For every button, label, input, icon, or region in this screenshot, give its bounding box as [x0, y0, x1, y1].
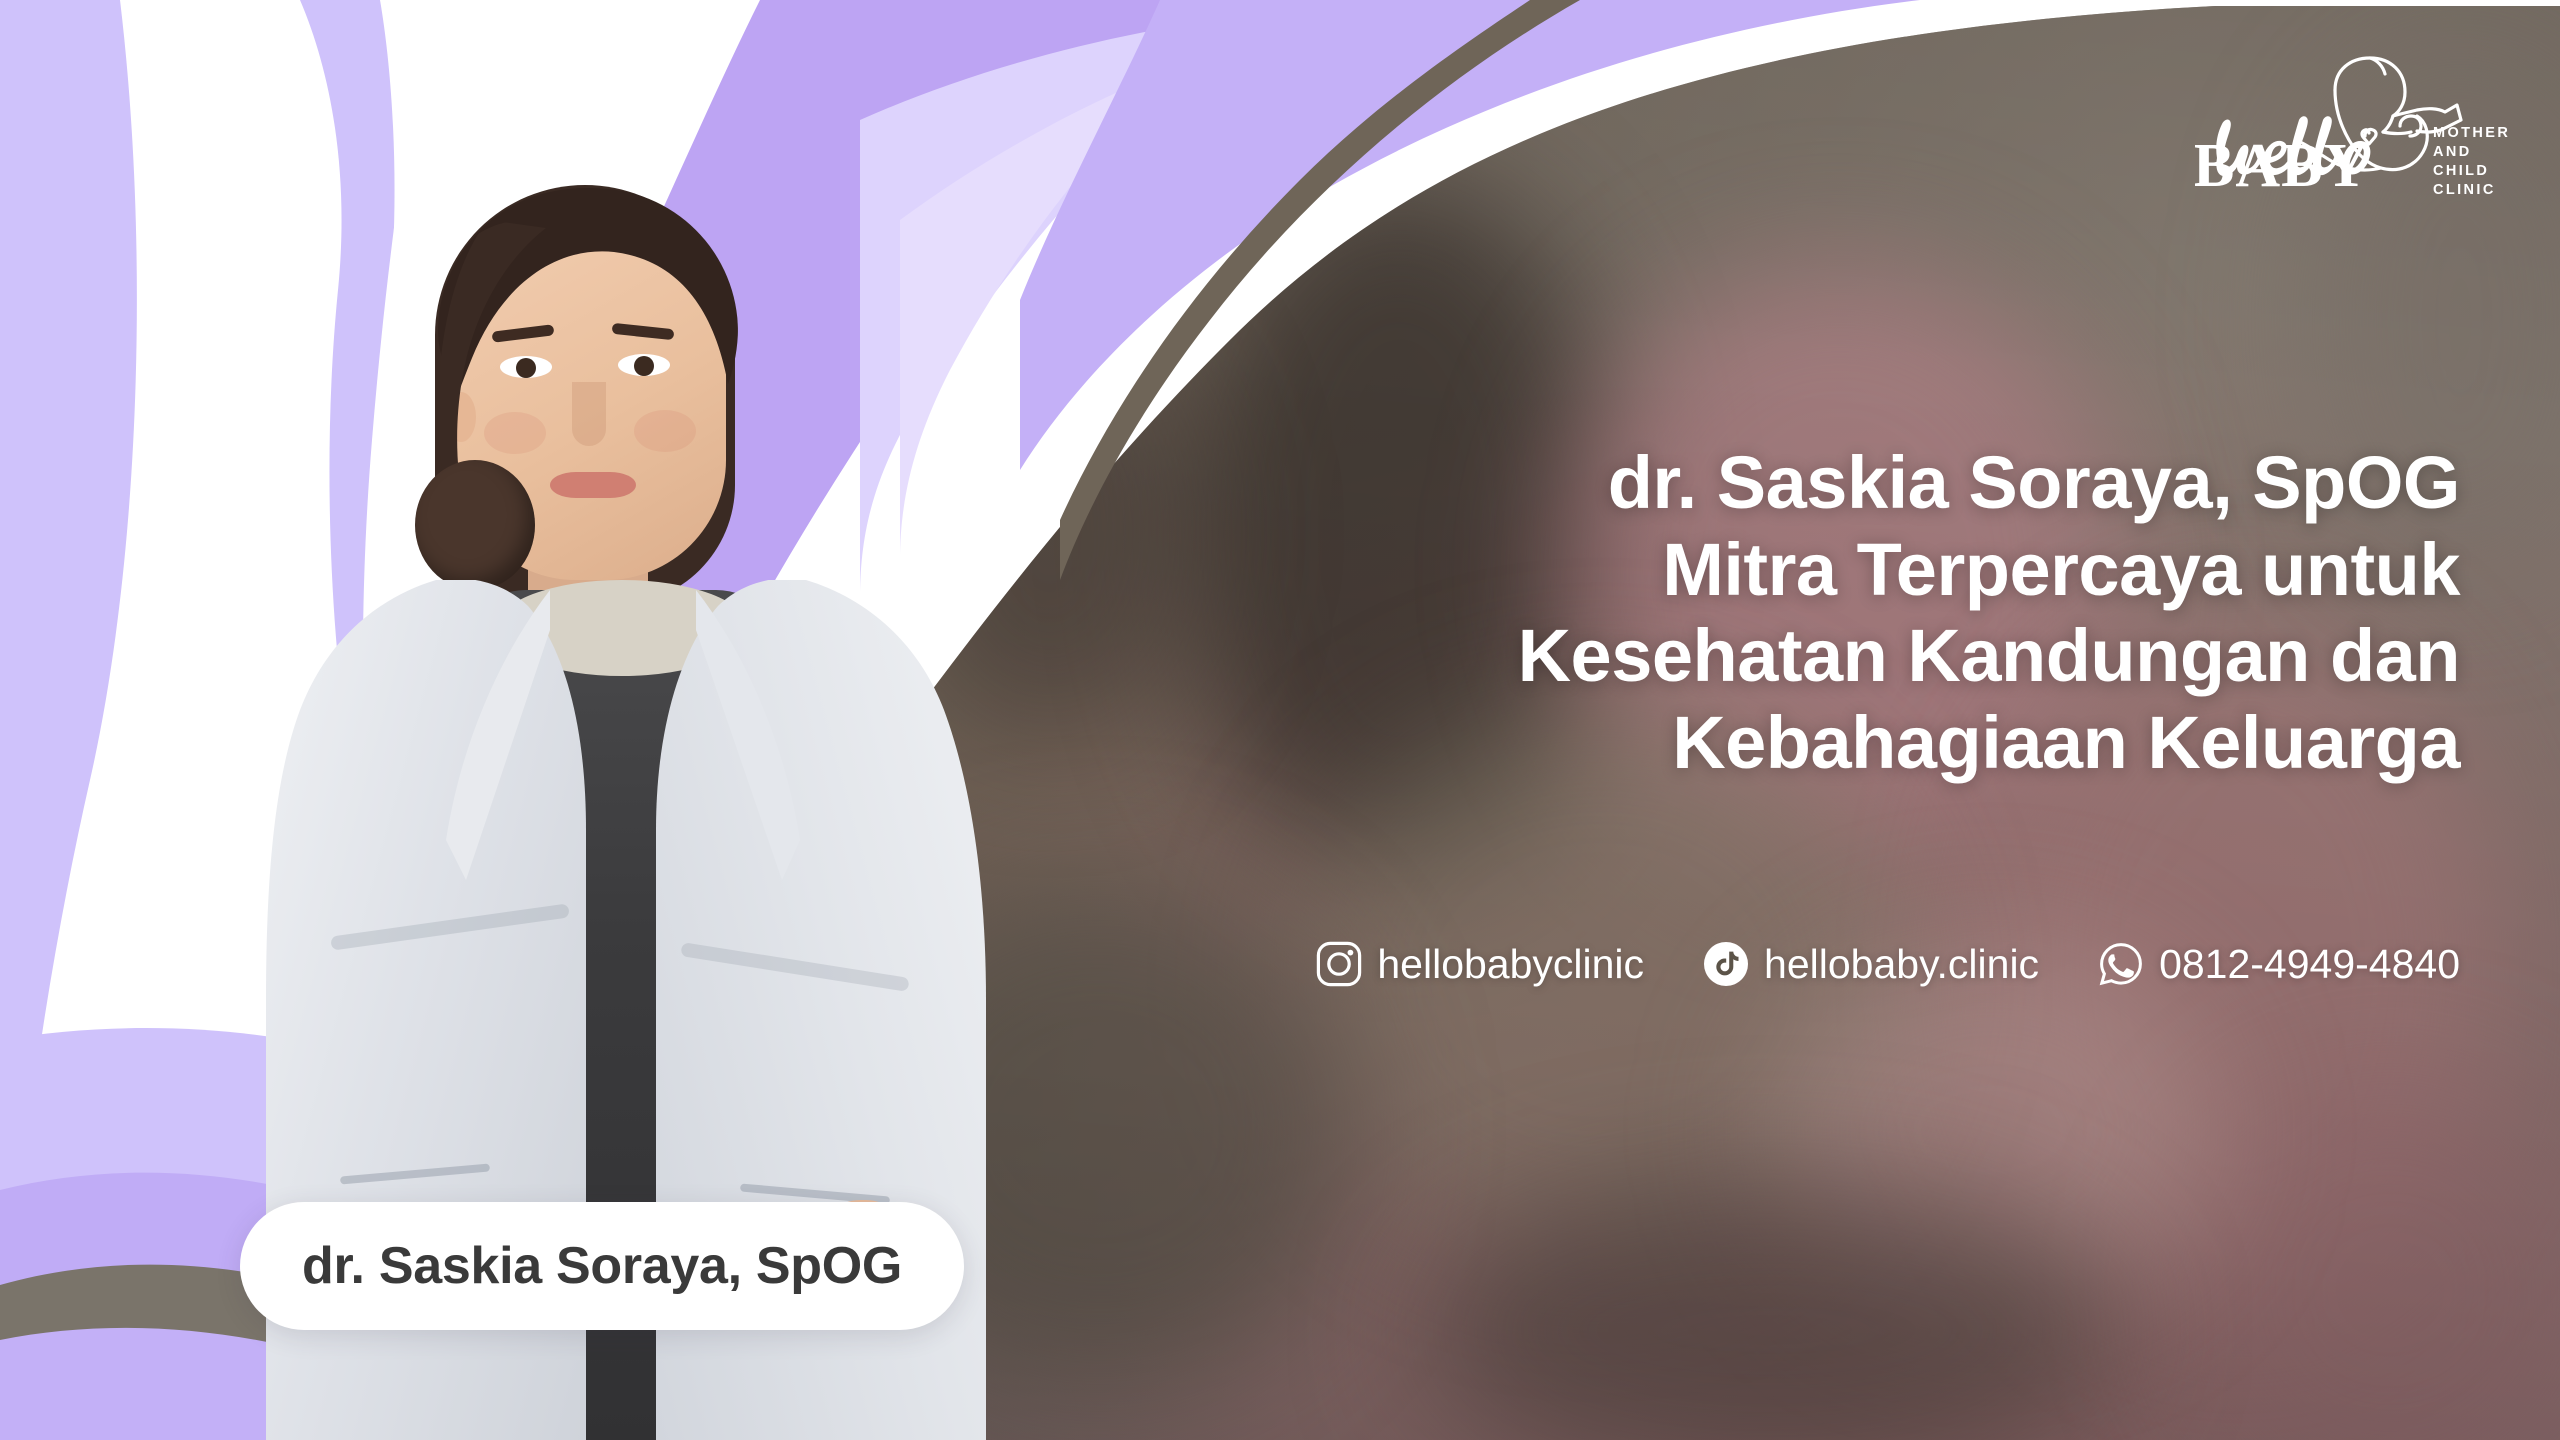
headline-line-1: dr. Saskia Soraya, SpOG — [900, 440, 2460, 527]
instagram-handle[interactable]: hellobabyclinic — [1377, 941, 1644, 988]
hello-baby-logo: BABY MOTHER AND CHILD CLINIC — [2195, 48, 2505, 188]
tiktok-icon[interactable] — [1702, 940, 1750, 988]
cheek-right — [634, 410, 696, 452]
headline-line-2: Mitra Terpercaya untuk — [900, 527, 2460, 614]
nose — [572, 382, 606, 446]
whatsapp-number[interactable]: 0812-4949-4840 — [2159, 941, 2460, 988]
pupil-right — [634, 356, 654, 376]
doctor-name-label: dr. Saskia Soraya, SpOG — [302, 1236, 902, 1296]
whatsapp-icon[interactable] — [2097, 940, 2145, 988]
logo-tagline-line-1: MOTHER — [2433, 124, 2510, 143]
logo-tagline-line-2: AND — [2433, 143, 2510, 162]
logo-tagline: MOTHER AND CHILD CLINIC — [2433, 124, 2510, 199]
social-item-tiktok[interactable]: hellobaby.clinic — [1702, 940, 2039, 988]
headline-line-4: Kebahagiaan Keluarga — [900, 700, 2460, 787]
svg-text:BABY: BABY — [2195, 132, 2369, 188]
pupil-left — [516, 358, 536, 378]
social-item-whatsapp[interactable]: 0812-4949-4840 — [2097, 940, 2460, 988]
headline: dr. Saskia Soraya, SpOG Mitra Terpercaya… — [900, 440, 2460, 786]
lips — [550, 472, 636, 498]
logo-tagline-line-4: CLINIC — [2433, 181, 2510, 200]
hair-bun — [415, 460, 535, 590]
logo-tagline-line-3: CHILD — [2433, 162, 2510, 181]
social-item-instagram[interactable]: hellobabyclinic — [1315, 940, 1644, 988]
promo-banner: BABY MOTHER AND CHILD CLINIC dr. Saskia … — [0, 0, 2560, 1440]
tiktok-handle[interactable]: hellobaby.clinic — [1764, 941, 2039, 988]
instagram-icon[interactable] — [1315, 940, 1363, 988]
cheek-left — [484, 412, 546, 454]
headline-line-3: Kesehatan Kandungan dan — [900, 613, 2460, 700]
social-contact-row: hellobabyclinic hellobaby.clinic 0812-49… — [900, 940, 2460, 988]
doctor-name-pill: dr. Saskia Soraya, SpOG — [240, 1202, 964, 1330]
